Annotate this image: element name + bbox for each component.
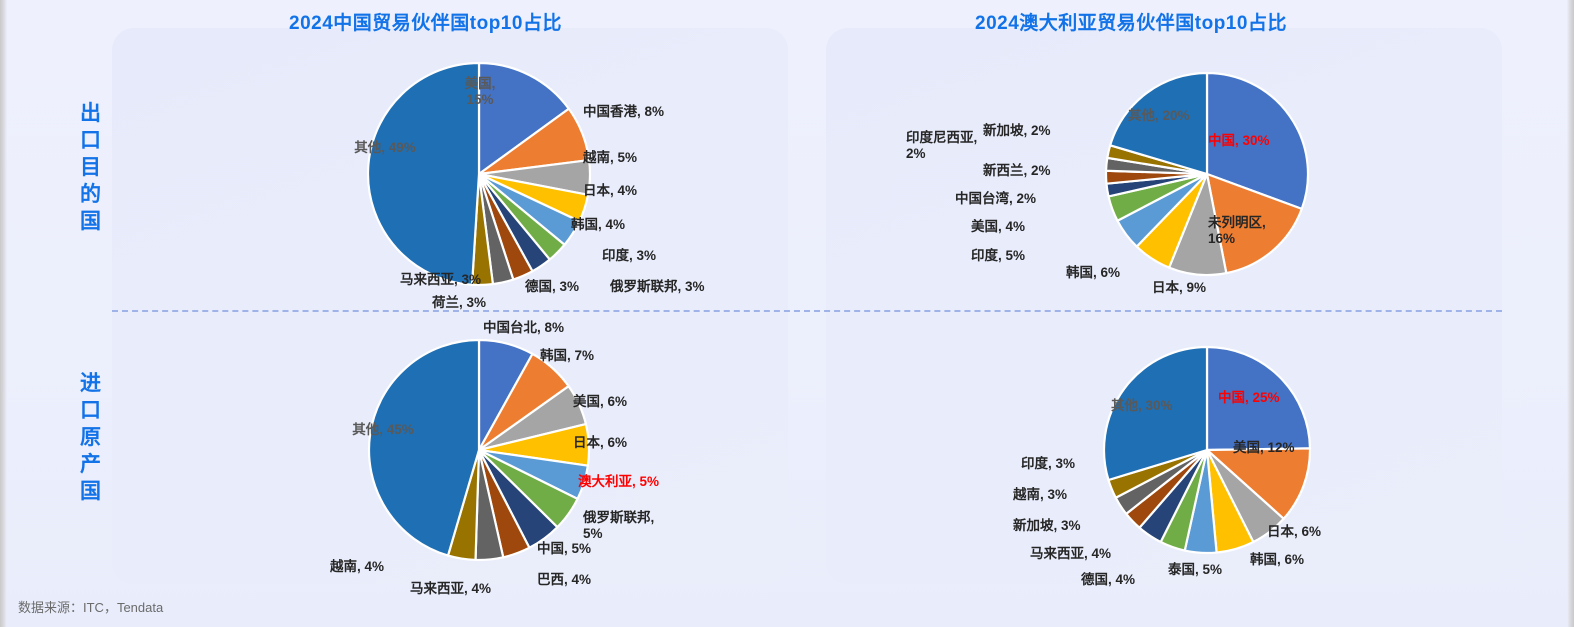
pie-slice-label: 美国, 12% xyxy=(1233,440,1295,456)
pie-slice-label: 印度, 5% xyxy=(971,248,1025,264)
pie-slice-label: 德国, 4% xyxy=(1081,572,1135,588)
pie-slice-label: 美国, 4% xyxy=(971,219,1025,235)
pie-slice-label: 美国, 6% xyxy=(573,394,627,410)
pie-slice-label: 马来西亚, 4% xyxy=(410,581,491,597)
pie-slice-label: 俄罗斯联邦, 5% xyxy=(583,510,654,542)
pie-slice-label: 越南, 3% xyxy=(1013,487,1067,503)
pie-svg-cn-export: 美国, 15%中国香港, 8%越南, 5%日本, 4%韩国, 4%印度, 3%俄… xyxy=(112,30,788,310)
pie-slice-label: 日本, 6% xyxy=(1267,524,1321,540)
pie-slice-label: 未列明区, 16% xyxy=(1208,215,1266,247)
pie-slice-label: 日本, 4% xyxy=(583,183,637,199)
data-source-note: 数据来源：ITC，Tendata xyxy=(18,597,163,616)
pie-slice-label: 越南, 4% xyxy=(330,559,384,575)
pie-slice-label: 泰国, 5% xyxy=(1168,562,1222,578)
pie-slice[interactable]: 其他, 49% xyxy=(368,63,479,285)
pie-slice-label: 日本, 6% xyxy=(573,435,627,451)
pie-slice-label: 荷兰, 3% xyxy=(432,295,486,311)
window-edge-right xyxy=(1567,0,1574,627)
pie-slice-label: 中国, 30% xyxy=(1208,133,1270,149)
pie-slice-label: 其他, 30% xyxy=(1111,398,1173,414)
pie-slice-label: 美国, 15% xyxy=(465,76,496,108)
pie-slice-label: 澳大利亚, 5% xyxy=(578,474,659,490)
pie-slice-label: 韩国, 6% xyxy=(1066,265,1120,281)
pie-slice-label: 新加坡, 3% xyxy=(1013,518,1081,534)
window-edge-left xyxy=(0,0,7,627)
pie-slice-label: 中国, 25% xyxy=(1218,390,1280,406)
pie-slice-label: 巴西, 4% xyxy=(537,572,591,588)
pie-slice-label: 德国, 3% xyxy=(525,279,579,295)
pie-slice-label: 俄罗斯联邦, 3% xyxy=(610,279,705,295)
pie-slice-label: 其他, 45% xyxy=(352,422,414,438)
pie-svg-au-import: 中国, 25%美国, 12%日本, 6%韩国, 6%泰国, 5%德国, 4%马来… xyxy=(826,312,1502,584)
pie-slice-label: 印度尼西亚, 2% xyxy=(906,130,977,162)
pie-chart-australia-import: 中国, 25%美国, 12%日本, 6%韩国, 6%泰国, 5%德国, 4%马来… xyxy=(826,312,1502,584)
pie-svg-cn-import: 中国台北, 8%韩国, 7%美国, 6%日本, 6%澳大利亚, 5%俄罗斯联邦,… xyxy=(112,312,788,584)
pie-chart-china-import: 中国台北, 8%韩国, 7%美国, 6%日本, 6%澳大利亚, 5%俄罗斯联邦,… xyxy=(112,312,788,584)
pie-slice-label: 日本, 9% xyxy=(1152,280,1206,296)
pie-slice-label: 马来西亚, 3% xyxy=(400,272,481,288)
pie-slice-label: 中国台北, 8% xyxy=(483,320,564,336)
pie-chart-australia-export: 中国, 30%未列明区, 16%日本, 9%韩国, 6%印度, 5%美国, 4%… xyxy=(826,30,1502,310)
pie-slice-label: 中国, 5% xyxy=(537,541,591,557)
row-label-import: 进口原产国 xyxy=(74,370,108,505)
pie-slice-label: 新西兰, 2% xyxy=(983,163,1051,179)
pie-slice-label: 越南, 5% xyxy=(583,150,637,166)
row-label-export: 出口目的国 xyxy=(74,100,108,235)
pie-slice-label: 韩国, 4% xyxy=(571,217,625,233)
pie-slice-label: 韩国, 7% xyxy=(540,348,594,364)
pie-slice-label: 马来西亚, 4% xyxy=(1030,546,1111,562)
pie-slice-label: 其他, 20% xyxy=(1128,108,1190,124)
pie-slice-label: 新加坡, 2% xyxy=(983,123,1051,139)
pie-slice-label: 中国台湾, 2% xyxy=(955,191,1036,207)
pie-slice-label: 其他, 49% xyxy=(354,140,416,156)
pie-slice-label: 印度, 3% xyxy=(1021,456,1075,472)
pie-chart-china-export: 美国, 15%中国香港, 8%越南, 5%日本, 4%韩国, 4%印度, 3%俄… xyxy=(112,30,788,310)
pie-slice-label: 印度, 3% xyxy=(602,248,656,264)
pie-slice-label: 中国香港, 8% xyxy=(583,104,664,120)
pie-svg-au-export: 中国, 30%未列明区, 16%日本, 9%韩国, 6%印度, 5%美国, 4%… xyxy=(826,30,1502,310)
pie-slice-label: 韩国, 6% xyxy=(1250,552,1304,568)
